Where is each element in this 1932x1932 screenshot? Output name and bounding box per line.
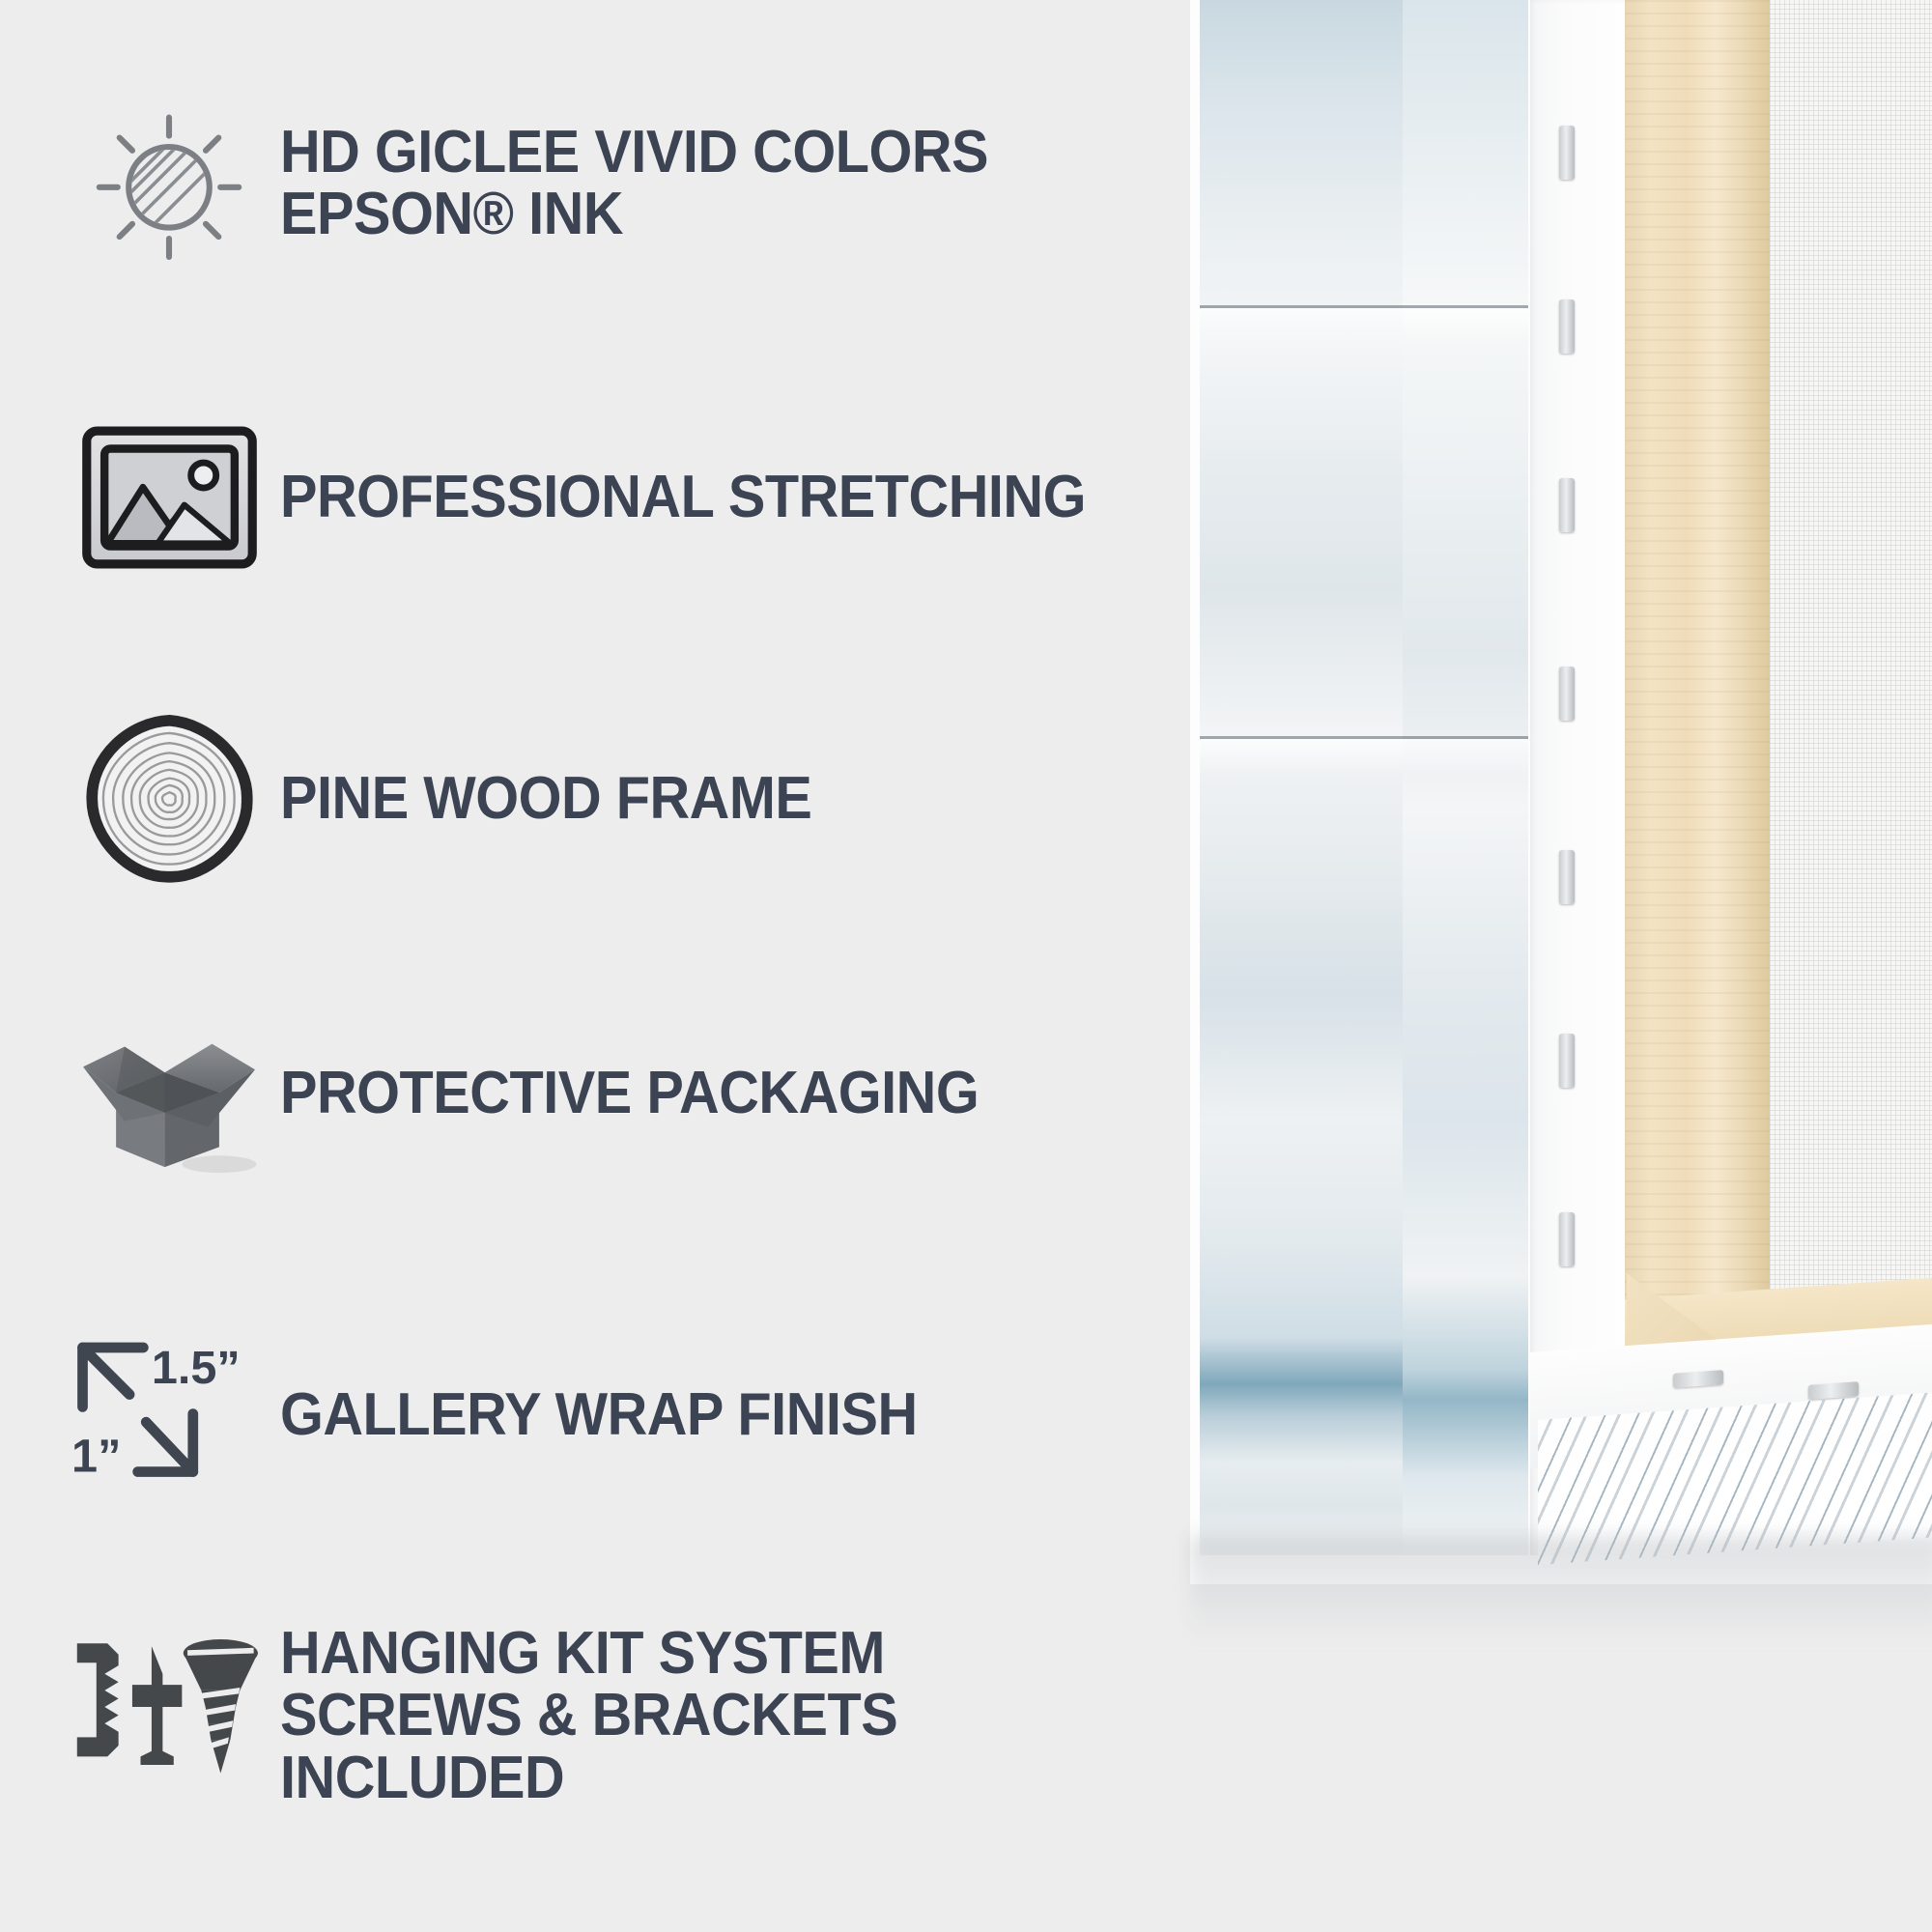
staple [1559, 478, 1575, 532]
product-photo [1190, 0, 1932, 1584]
feature-row-gallery-wrap-finish: 1.5” 1” GALLERY WRAP FINISH [58, 1328, 965, 1502]
feature-label: PINE WOOD FRAME [280, 768, 811, 830]
edge-fold-shade-bottom [1200, 739, 1528, 776]
staple [1559, 850, 1575, 904]
canvas-back-fabric [1770, 0, 1932, 1314]
hanging-hardware-icon-svg [66, 1630, 273, 1804]
depth-arrows-icon: 1.5” 1” [58, 1328, 280, 1502]
picture-frame-icon-svg [80, 425, 259, 570]
sun-print-icon-svg [77, 92, 261, 275]
artwork-wrapped-edge-second [1403, 0, 1528, 1555]
open-box-icon [58, 1009, 280, 1179]
feature-list: HD GICLEE VIVID COLORS EPSON® INK [0, 0, 1198, 1932]
depth-arrows-icon-svg: 1.5” 1” [66, 1328, 273, 1502]
feature-label: PROFESSIONAL STRETCHING [280, 467, 1086, 528]
pine-stretcher-bar-vertical [1625, 0, 1770, 1362]
canvas-side-wall [1530, 0, 1627, 1555]
artwork-wrapped-edge [1200, 0, 1403, 1555]
hanging-hardware-icon [58, 1630, 280, 1804]
dimension-bottom-label: 1” [71, 1431, 121, 1483]
staple [1559, 667, 1575, 721]
feature-row-professional-stretching: PROFESSIONAL STRETCHING [58, 425, 1147, 570]
sun-print-icon [58, 92, 280, 275]
feature-row-protective-packaging: PROTECTIVE PACKAGING [58, 1009, 1032, 1179]
photo-drop-shadow [1190, 1536, 1932, 1642]
feature-label: GALLERY WRAP FINISH [280, 1384, 918, 1446]
staple [1559, 1034, 1575, 1088]
feature-label: HD GICLEE VIVID COLORS EPSON® INK [280, 122, 988, 246]
wood-rings-icon-svg [85, 715, 254, 884]
feature-row-hanging-kit: HANGING KIT SYSTEM SCREWS & BRACKETS INC… [58, 1623, 1198, 1809]
screw-icon [183, 1639, 257, 1774]
nail-icon [131, 1646, 181, 1765]
feature-label: HANGING KIT SYSTEM SCREWS & BRACKETS INC… [280, 1623, 1134, 1809]
wood-rings-icon [58, 715, 280, 884]
bracket-icon [76, 1643, 118, 1756]
picture-frame-icon [58, 425, 280, 570]
edge-fold-shade-top [1200, 308, 1528, 345]
dimension-top-label: 1.5” [151, 1342, 240, 1394]
open-box-icon-svg [72, 1009, 266, 1179]
feature-label: PROTECTIVE PACKAGING [280, 1063, 979, 1124]
feature-row-hd-giclee: HD GICLEE VIVID COLORS EPSON® INK [58, 92, 1041, 275]
staple [1559, 126, 1575, 180]
infographic-canvas: HD GICLEE VIVID COLORS EPSON® INK [0, 0, 1932, 1932]
staple [1559, 1212, 1575, 1266]
feature-row-pine-wood-frame: PINE WOOD FRAME [58, 715, 852, 884]
staple [1559, 299, 1575, 354]
